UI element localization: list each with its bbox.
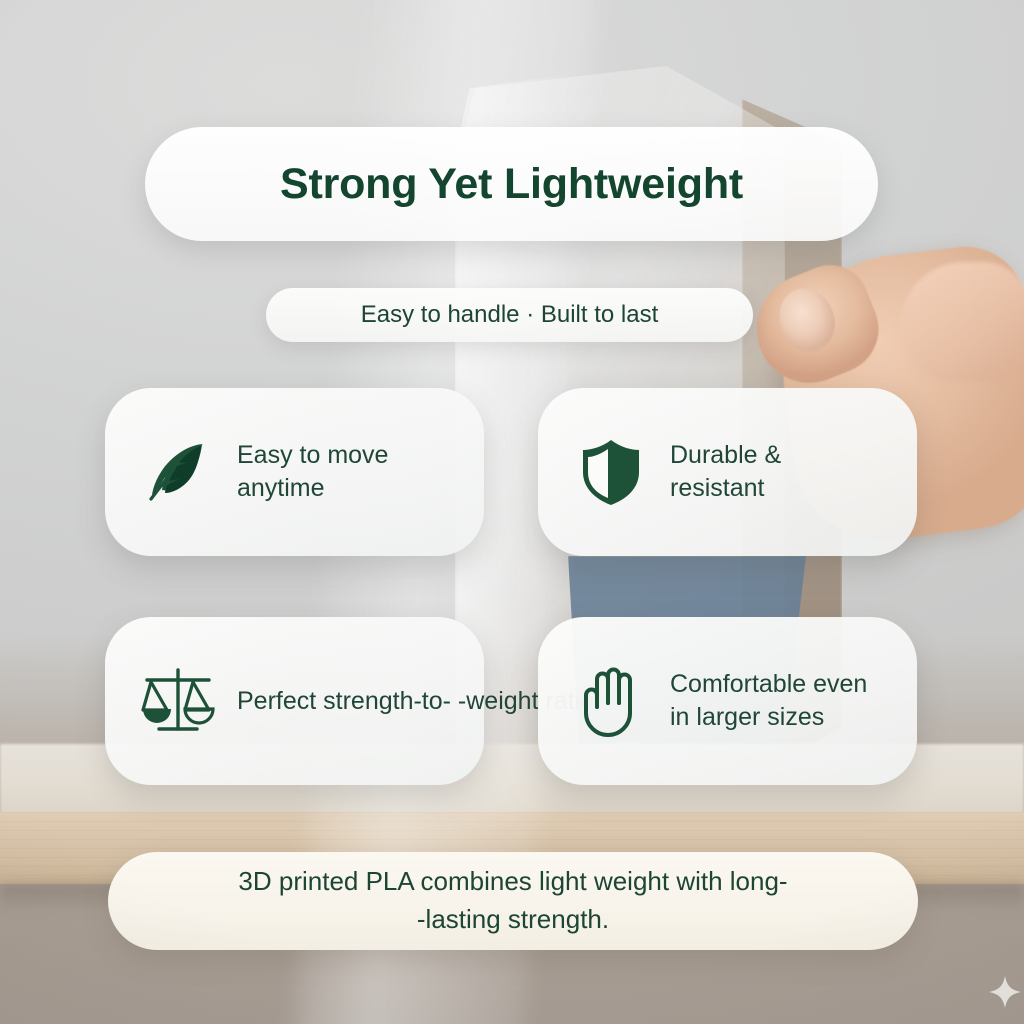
open-hand-icon [572, 662, 650, 740]
hand-knuckles [900, 262, 1024, 382]
feature-label: Comfortable even in larger sizes [670, 668, 891, 734]
shield-icon [572, 433, 650, 511]
promo-graphic: Strong Yet Lightweight Easy to handle · … [0, 0, 1024, 1024]
subtitle-pill: Easy to handle · Built to last [266, 288, 753, 342]
feature-label: Durable & resistant [670, 439, 891, 505]
footer-caption: 3D printed PLA combines light weight wit… [238, 863, 787, 938]
title-pill: Strong Yet Lightweight [145, 127, 878, 241]
feature-card-easy-to-move[interactable]: Easy to move anytime [105, 388, 484, 556]
sparkle-icon [988, 975, 1022, 1009]
feature-label: Easy to move anytime [237, 439, 458, 505]
page-subtitle: Easy to handle · Built to last [361, 301, 659, 329]
balance-scale-icon [139, 662, 217, 740]
feature-card-comfortable[interactable]: Comfortable even in larger sizes [538, 617, 917, 785]
feature-card-strength-to-weight[interactable]: Perfect strength-to- -weight ratio [105, 617, 484, 785]
feature-card-durable[interactable]: Durable & resistant [538, 388, 917, 556]
page-title: Strong Yet Lightweight [280, 160, 743, 209]
feather-icon [139, 433, 217, 511]
footer-caption-pill: 3D printed PLA combines light weight wit… [108, 852, 918, 950]
